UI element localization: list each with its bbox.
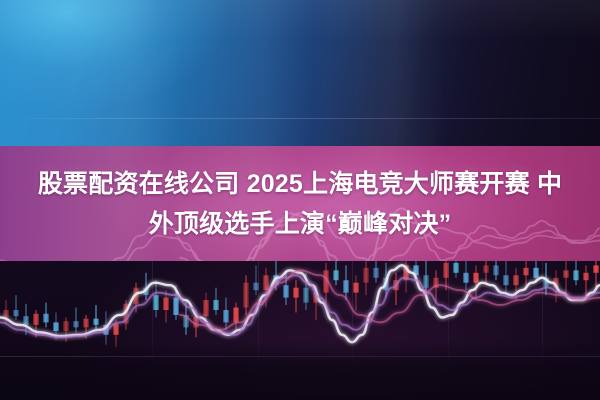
candle-body bbox=[573, 270, 578, 280]
bottom-vignette bbox=[0, 340, 600, 400]
candle-body bbox=[493, 265, 498, 275]
candle-body bbox=[423, 275, 428, 287]
candle-body bbox=[453, 263, 458, 273]
title-line-2: 外顶级选手上演“巅峰对决” bbox=[149, 205, 452, 243]
candle-body bbox=[263, 275, 268, 290]
candle-body bbox=[483, 265, 488, 272]
candle-body bbox=[583, 273, 588, 280]
candle-body bbox=[353, 283, 358, 293]
banner-image: 股票配资在线公司 2025上海电竞大师赛开赛 中 外顶级选手上演“巅峰对决” bbox=[0, 0, 600, 400]
candle-body bbox=[293, 288, 298, 298]
candle-body bbox=[73, 321, 78, 327]
candle-body bbox=[243, 283, 248, 308]
ma-line bbox=[0, 275, 600, 337]
candle-body bbox=[533, 268, 538, 278]
top-band-divider bbox=[0, 118, 600, 119]
candle-body bbox=[363, 268, 368, 283]
candle-body bbox=[3, 310, 8, 317]
candle-body bbox=[63, 321, 68, 331]
candle-body bbox=[153, 295, 158, 310]
candle-body bbox=[163, 298, 168, 310]
candle-body bbox=[463, 273, 468, 283]
chart-baseline bbox=[0, 356, 600, 357]
candle-body bbox=[563, 270, 568, 277]
candle-body bbox=[53, 322, 58, 331]
top-band-sheen bbox=[0, 0, 600, 146]
candle-body bbox=[233, 308, 238, 323]
candle-body bbox=[513, 275, 518, 285]
moving-average-lines bbox=[0, 265, 600, 342]
candle-body bbox=[43, 314, 48, 323]
candle-body bbox=[13, 310, 18, 316]
candle-body bbox=[473, 273, 478, 283]
candle-body bbox=[373, 268, 378, 278]
candle-body bbox=[303, 288, 308, 303]
candle-body bbox=[593, 265, 598, 272]
candle-body bbox=[93, 319, 98, 325]
candle-body bbox=[503, 275, 508, 285]
candle-body bbox=[213, 300, 218, 310]
candle-body bbox=[203, 300, 208, 316]
candle-body bbox=[223, 310, 228, 322]
candle-body bbox=[113, 324, 118, 335]
candle-body bbox=[33, 314, 38, 325]
banner-title: 股票配资在线公司 2025上海电竞大师赛开赛 中 外顶级选手上演“巅峰对决” bbox=[0, 146, 600, 261]
candle-body bbox=[333, 270, 338, 280]
candle-body bbox=[83, 319, 88, 328]
candle-body bbox=[283, 285, 288, 297]
candle-body bbox=[343, 280, 348, 292]
candle-body bbox=[523, 268, 528, 275]
candle-body bbox=[23, 316, 28, 325]
candle-body bbox=[173, 298, 178, 315]
title-line-1: 股票配资在线公司 2025上海电竞大师赛开赛 中 bbox=[38, 165, 562, 203]
